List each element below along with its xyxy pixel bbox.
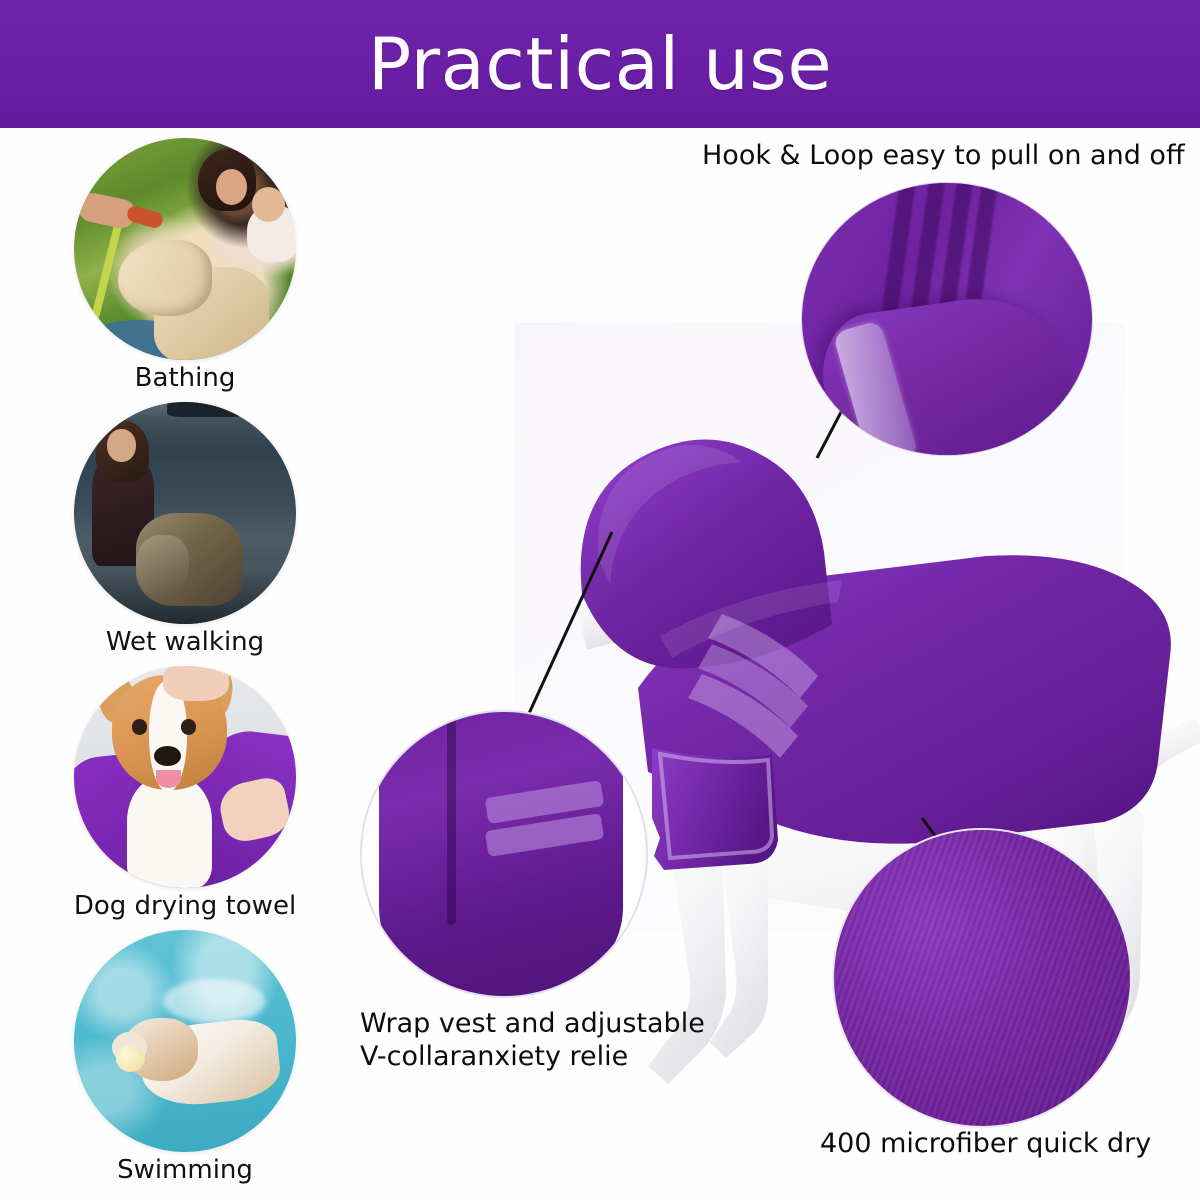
product-stage: Hook & Loop easy to pull on and off Wrap… — [330, 128, 1200, 1200]
use-case-label-bathing: Bathing — [60, 364, 310, 394]
corgi-tongue-shape — [156, 770, 180, 788]
caption-hook-loop: Hook & Loop easy to pull on and off — [702, 140, 1200, 173]
product-infographic-page: Practical use Bathing — [0, 0, 1200, 1200]
dog-lake-walk-photo — [74, 402, 296, 624]
caption-wrap-vest-line2: V-collaranxiety relie — [360, 1041, 760, 1074]
dog-bathing-photo — [74, 138, 296, 360]
microfiber-fabric-shape — [832, 828, 1132, 1128]
use-case-label-wet-walking: Wet walking — [60, 628, 310, 658]
hook-loop-closeup-photo — [802, 183, 1092, 455]
use-case-label-swimming: Swimming — [60, 1156, 310, 1186]
corgi-eye-right-shape — [181, 719, 197, 735]
hand-top-shape — [163, 666, 230, 702]
folded-vest-fabric-shape — [379, 710, 623, 996]
corgi-eye-left-shape — [132, 719, 148, 735]
use-case-item-wet-walking: Wet walking — [60, 402, 310, 658]
use-case-list: Bathing Wet walking — [60, 138, 320, 1194]
page-title: Practical use — [368, 28, 832, 100]
corgi-nose-shape — [154, 746, 181, 766]
caption-microfiber: 400 microfiber quick dry — [820, 1128, 1200, 1161]
use-case-item-swimming: Swimming — [60, 930, 310, 1186]
dog-swimming-photo — [74, 930, 296, 1152]
corgi-in-towel-photo — [74, 666, 296, 888]
hose-shape — [87, 223, 122, 333]
use-case-item-dog-drying-towel: Dog drying towel — [60, 666, 310, 922]
caption-wrap-vest-line1: Wrap vest and adjustable — [360, 1008, 760, 1041]
corgi-chest-shape — [127, 777, 211, 888]
microfiber-texture-closeup-photo — [832, 828, 1132, 1128]
leader-line-wrap-vest — [526, 532, 612, 720]
use-case-label-dog-drying-towel: Dog drying towel — [60, 892, 310, 922]
hose-nozzle-shape — [126, 204, 164, 229]
caption-wrap-vest: Wrap vest and adjustable V-collaranxiety… — [360, 1008, 760, 1074]
folded-wrap-vest-photo — [360, 710, 648, 998]
treeline-shape — [167, 402, 247, 418]
hook-loop-fabric-shape — [802, 183, 1092, 455]
use-case-item-bathing: Bathing — [60, 138, 310, 394]
header-banner: Practical use — [0, 0, 1200, 128]
dog-head-shape — [118, 240, 211, 315]
person-face-shape — [216, 169, 247, 205]
vest-seam-shape — [447, 710, 456, 925]
water-splash-shape — [163, 979, 265, 1023]
baby-head-shape — [252, 187, 285, 223]
ball-shape — [116, 1045, 145, 1072]
woman-face-shape — [107, 429, 136, 462]
